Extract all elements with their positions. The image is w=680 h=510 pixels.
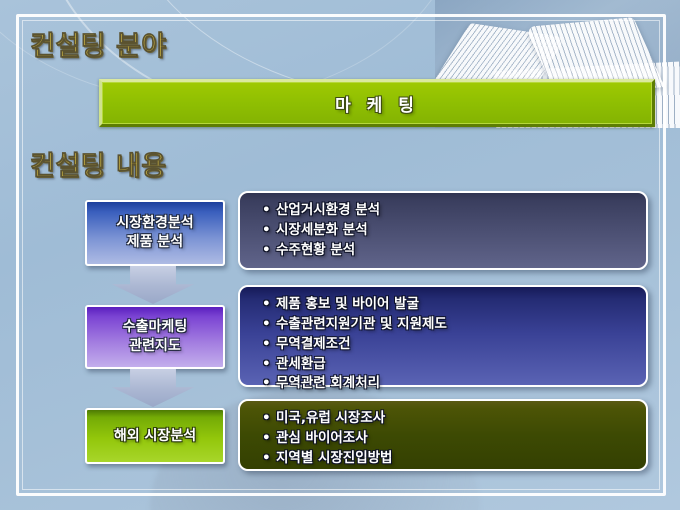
down-arrow-icon [112, 369, 194, 407]
stage-label-overseas-market: 해외 시장분석 [85, 408, 225, 464]
bullet-list: 미국,유럽 시장조사 관심 바이어조사 지역별 시장진입방법 [262, 409, 636, 469]
content-box-export-marketing: 제품 홍보 및 바이어 발굴 수출관련지원기관 및 지원제도 무역결제조건 관세… [238, 285, 648, 387]
stage-label-market-analysis: 시장환경분석 제품 분석 [85, 200, 225, 266]
bullet-item: 수주현황 분석 [262, 241, 636, 261]
bullet-item: 제품 홍보 및 바이어 발굴 [262, 295, 636, 315]
content-box-market-analysis: 산업거시환경 분석 시장세분화 분석 수주현황 분석 [238, 191, 648, 270]
bullet-item: 무역관련 회계처리 [262, 374, 636, 394]
stage-label-export-marketing: 수출마케팅 관련지도 [85, 305, 225, 369]
bullet-item: 지역별 시장진입방법 [262, 449, 636, 469]
stage-label-text: 시장환경분석 제품 분석 [116, 214, 193, 252]
bullet-item: 관세환급 [262, 355, 636, 375]
bullet-item: 무역결제조건 [262, 335, 636, 355]
content-box-overseas-market: 미국,유럽 시장조사 관심 바이어조사 지역별 시장진입방법 [238, 399, 648, 471]
consulting-stage-diagram: 시장환경분석 제품 분석 수출마케팅 관련지도 해외 시장분석 산업거시환경 분… [0, 0, 680, 510]
bullet-item: 산업거시환경 분석 [262, 201, 636, 221]
bullet-list: 산업거시환경 분석 시장세분화 분석 수주현황 분석 [262, 201, 636, 261]
bullet-item: 수출관련지원기관 및 지원제도 [262, 315, 636, 335]
bullet-item: 미국,유럽 시장조사 [262, 409, 636, 429]
presentation-slide: 컨설팅 분야 마 케 팅 컨설팅 내용 시장환경분석 제품 분석 수출마케팅 관… [0, 0, 680, 510]
stage-label-text: 수출마케팅 관련지도 [123, 318, 187, 356]
bullet-item: 시장세분화 분석 [262, 221, 636, 241]
stage-label-text: 해외 시장분석 [114, 427, 196, 446]
bullet-list: 제품 홍보 및 바이어 발굴 수출관련지원기관 및 지원제도 무역결제조건 관세… [262, 295, 636, 394]
bullet-item: 관심 바이어조사 [262, 429, 636, 449]
down-arrow-icon [112, 266, 194, 304]
